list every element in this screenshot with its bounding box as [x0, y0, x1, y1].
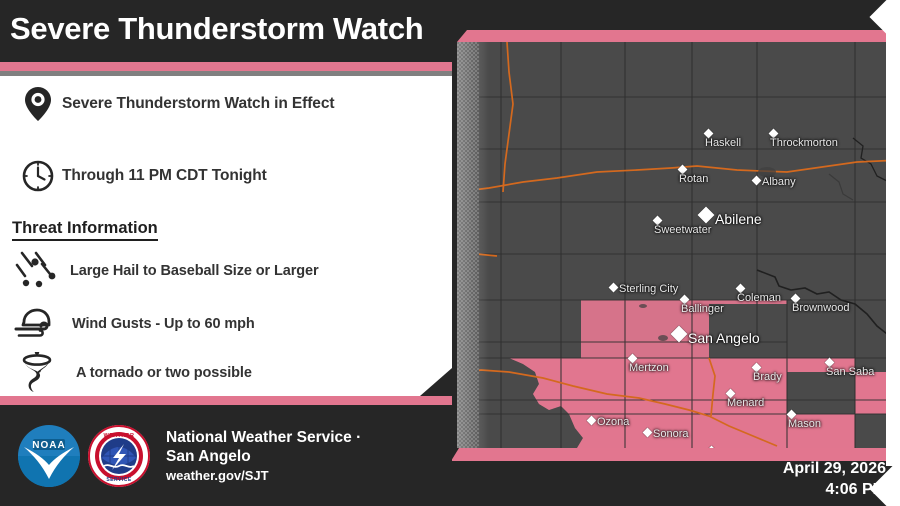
map-pin-icon [14, 87, 62, 121]
map-top-accent-bar [457, 30, 900, 42]
severe-weather-graphic: HaskellThrockmortonRotanAlbanySweetwater… [0, 0, 900, 506]
agency-name-line1: National Weather Service · [166, 428, 436, 447]
noaa-logo: NOAA [18, 425, 80, 487]
threat-row-wind: Wind Gusts - Up to 60 mph [14, 305, 434, 343]
info-row-watch-in-effect: Severe Thunderstorm Watch in Effect [14, 86, 434, 122]
tornado-icon [14, 352, 62, 394]
map-canvas[interactable]: HaskellThrockmortonRotanAlbanySweetwater… [457, 42, 900, 448]
issue-date: April 29, 2026 [783, 458, 886, 479]
clock-icon [14, 160, 62, 192]
nws-logo: WEATHER SERVICE [88, 425, 150, 487]
threat-row-hail: Large Hail to Baseball Size or Larger [14, 252, 434, 290]
agency-website: weather.gov/SJT [166, 467, 436, 485]
info-panel: Severe Thunderstorm Watch Severe Thunder… [0, 0, 452, 506]
threat-row-label: Wind Gusts - Up to 60 mph [72, 316, 255, 332]
threat-row-label: A tornado or two possible [76, 365, 252, 381]
hail-icon [14, 251, 62, 291]
timestamp-block: April 29, 2026 4:06 PM [783, 458, 886, 500]
svg-text:SERVICE: SERVICE [106, 477, 132, 483]
panel-edge-strip [886, 30, 900, 466]
map-left-fade [457, 42, 503, 448]
header-accent-gray [0, 71, 452, 76]
wind-icon [14, 306, 62, 342]
agency-name-line2: San Angelo [166, 447, 436, 466]
map-graphic [457, 42, 900, 448]
header-bar: Severe Thunderstorm Watch [0, 0, 452, 62]
issue-time: 4:06 PM [783, 479, 886, 500]
agency-block: National Weather Service · San Angelo we… [166, 428, 436, 485]
info-row-expiration: Through 11 PM CDT Tonight [14, 158, 434, 194]
svg-text:WEATHER: WEATHER [104, 433, 135, 439]
info-row-label: Severe Thunderstorm Watch in Effect [62, 95, 334, 113]
map-panel: HaskellThrockmortonRotanAlbanySweetwater… [443, 0, 900, 506]
threat-row-tornado: A tornado or two possible [14, 354, 434, 392]
header-accent-pink [0, 62, 452, 71]
footer-accent-pink [0, 396, 452, 405]
info-row-label: Through 11 PM CDT Tonight [62, 167, 267, 185]
svg-text:NOAA: NOAA [32, 440, 65, 451]
threat-information-heading: Threat Information [12, 219, 158, 241]
threat-row-label: Large Hail to Baseball Size or Larger [70, 263, 319, 279]
page-title: Severe Thunderstorm Watch [10, 11, 450, 47]
